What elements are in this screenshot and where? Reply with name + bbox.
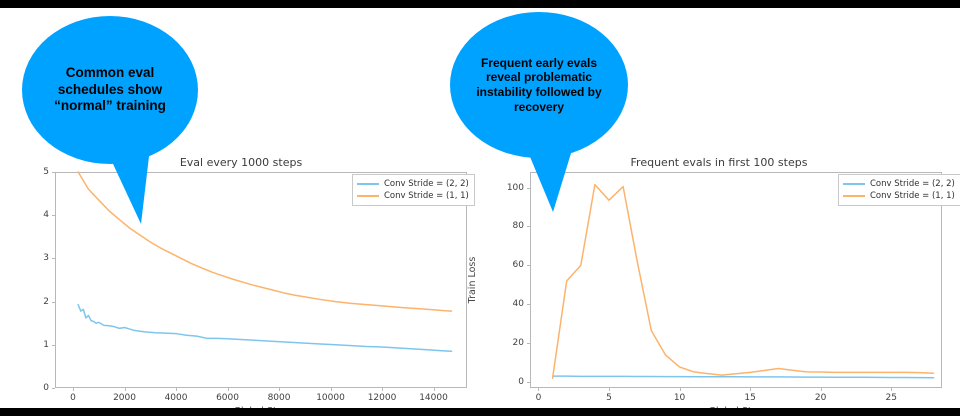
y-axis-label-left: Train Loss [0, 257, 3, 304]
y-tick-label: 40 [488, 299, 524, 309]
x-tick-label: 14000 [404, 393, 464, 403]
legend-label: Conv Stride = (2, 2) [870, 179, 955, 189]
series-line-0 [553, 376, 934, 378]
legend-item-1[interactable]: Conv Stride = (1, 1) [843, 190, 955, 202]
legend-swatch-icon [843, 195, 865, 197]
y-tick-label: 20 [488, 338, 524, 348]
slide-canvas: Eval every 1000 steps 012345020004000600… [0, 8, 960, 408]
legend-swatch-icon [843, 183, 865, 185]
x-tick-mark [279, 388, 280, 391]
y-tick-label: 60 [488, 260, 524, 270]
x-tick-mark [331, 388, 332, 391]
callout-body-right: Frequent early evals reveal problematic … [450, 12, 628, 158]
y-tick-mark [527, 265, 530, 266]
callout-body-left: Common eval schedules show “normal” trai… [22, 16, 198, 164]
x-tick-mark [382, 388, 383, 391]
callout-text-right: Frequent early evals reveal problematic … [450, 56, 628, 115]
callout-bubble-left[interactable]: Common eval schedules show “normal” trai… [22, 16, 228, 246]
x-tick-mark [228, 388, 229, 391]
x-tick-label: 25 [861, 393, 921, 403]
legend-swatch-icon [357, 183, 379, 185]
x-tick-label: 10 [650, 393, 710, 403]
y-tick-label: 2 [13, 297, 49, 307]
x-tick-mark [680, 388, 681, 391]
x-tick-label: 5 [579, 393, 639, 403]
legend-label: Conv Stride = (1, 1) [870, 191, 955, 201]
x-tick-mark [750, 388, 751, 391]
callout-text-left: Common eval schedules show “normal” trai… [22, 65, 198, 114]
y-tick-label: 0 [13, 383, 49, 393]
x-tick-label: 0 [508, 393, 568, 403]
legend-right[interactable]: Conv Stride = (2, 2)Conv Stride = (1, 1) [838, 174, 960, 206]
x-tick-mark [176, 388, 177, 391]
x-axis-label-left: Global Step [201, 406, 321, 408]
x-tick-mark [891, 388, 892, 391]
x-axis-label-right: Global Step [676, 406, 796, 408]
legend-item-0[interactable]: Conv Stride = (2, 2) [843, 178, 955, 190]
y-axis-label-right: Train Loss [467, 257, 478, 304]
x-tick-mark [538, 388, 539, 391]
y-tick-mark [52, 302, 55, 303]
x-tick-mark [73, 388, 74, 391]
y-tick-label: 0 [488, 377, 524, 387]
y-tick-mark [527, 382, 530, 383]
x-tick-mark [125, 388, 126, 391]
y-tick-mark [52, 258, 55, 259]
y-tick-mark [52, 345, 55, 346]
y-tick-mark [527, 343, 530, 344]
x-tick-label: 15 [720, 393, 780, 403]
x-tick-mark [434, 388, 435, 391]
legend-swatch-icon [357, 195, 379, 197]
y-tick-mark [527, 304, 530, 305]
x-tick-label: 20 [791, 393, 851, 403]
series-line-0 [78, 305, 451, 352]
y-tick-label: 1 [13, 340, 49, 350]
callout-bubble-right[interactable]: Frequent early evals reveal problematic … [450, 12, 660, 244]
y-tick-mark [52, 388, 55, 389]
y-tick-label: 3 [13, 253, 49, 263]
x-tick-mark [609, 388, 610, 391]
x-tick-mark [821, 388, 822, 391]
